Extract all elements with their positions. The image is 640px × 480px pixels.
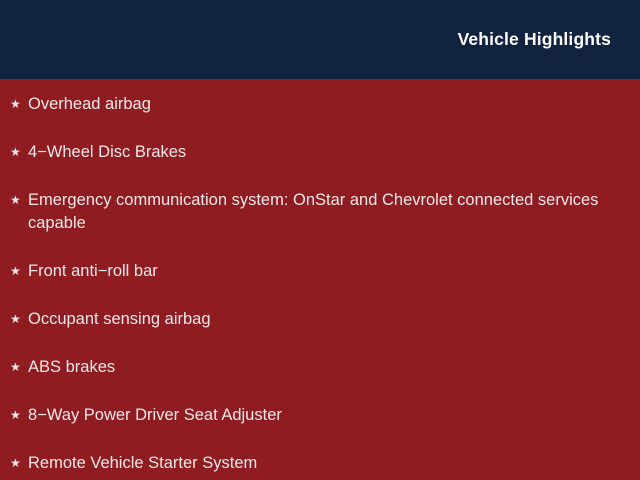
list-item-label: Front anti−roll bar [28,260,624,283]
list-item-label: ABS brakes [28,356,624,379]
star-bullet-icon: ★ [10,404,28,427]
list-item: ★ Overhead airbag [10,93,624,116]
list-item-label: Remote Vehicle Starter System [28,452,624,475]
list-item: ★ Remote Vehicle Starter System [10,452,624,475]
list-item-label: Emergency communication system: OnStar a… [28,189,624,236]
list-item: ★ Occupant sensing airbag [10,308,624,331]
list-item: ★ 8−Way Power Driver Seat Adjuster [10,404,624,427]
vehicle-highlights-slide: Vehicle Highlights ★ Overhead airbag ★ 4… [0,0,640,480]
list-item: ★ 4−Wheel Disc Brakes [10,141,624,164]
star-bullet-icon: ★ [10,260,28,283]
star-bullet-icon: ★ [10,308,28,331]
star-bullet-icon: ★ [10,93,28,116]
star-bullet-icon: ★ [10,141,28,164]
list-item: ★ Front anti−roll bar [10,260,624,283]
star-bullet-icon: ★ [10,356,28,379]
star-bullet-icon: ★ [10,189,28,212]
list-item-label: 8−Way Power Driver Seat Adjuster [28,404,624,427]
highlights-body: ★ Overhead airbag ★ 4−Wheel Disc Brakes … [0,79,640,480]
page-title: Vehicle Highlights [458,30,611,49]
vehicle-highlights-list: ★ Overhead airbag ★ 4−Wheel Disc Brakes … [10,93,624,475]
list-item: ★ ABS brakes [10,356,624,379]
slide-header: Vehicle Highlights [0,0,640,79]
list-item-label: Occupant sensing airbag [28,308,624,331]
list-item-label: Overhead airbag [28,93,624,116]
list-item-label: 4−Wheel Disc Brakes [28,141,624,164]
star-bullet-icon: ★ [10,452,28,475]
list-item: ★ Emergency communication system: OnStar… [10,189,624,236]
